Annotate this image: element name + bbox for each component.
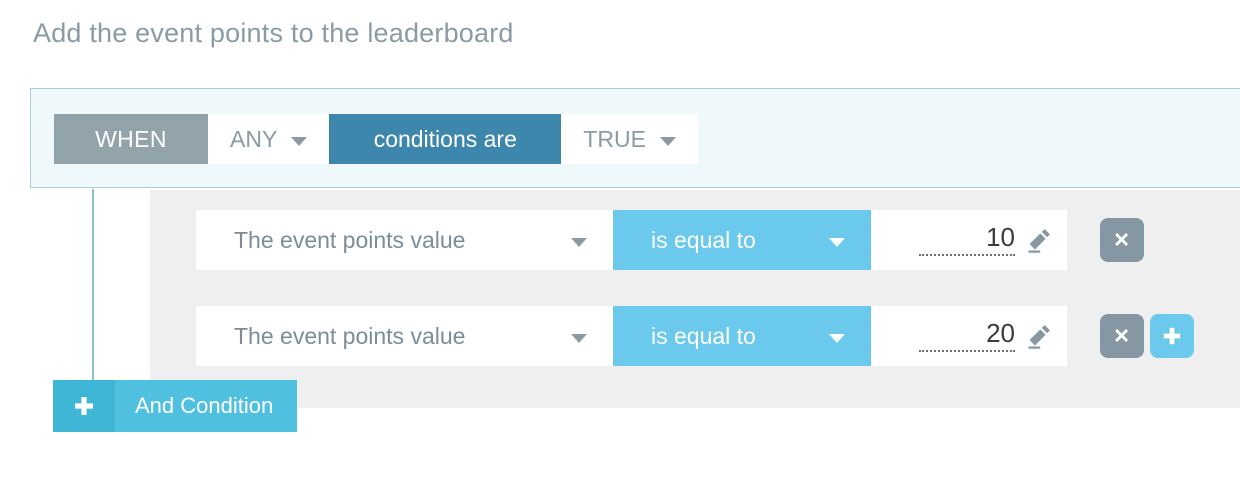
truth-value: TRUE — [583, 126, 646, 153]
close-icon — [1111, 325, 1133, 347]
condition-value-wrap: 20 — [919, 320, 1015, 352]
condition-value: 10 — [986, 224, 1015, 254]
condition-actions — [1100, 306, 1194, 366]
condition-value-field[interactable]: 20 — [871, 306, 1067, 366]
when-label: WHEN — [54, 114, 208, 164]
quantifier-value: ANY — [230, 126, 277, 153]
chevron-down-icon — [829, 334, 845, 343]
condition-subject-dropdown[interactable]: The event points value — [196, 210, 613, 270]
chevron-down-icon — [291, 137, 307, 146]
plus-icon — [1161, 325, 1183, 347]
page-title: Add the event points to the leaderboard — [33, 18, 514, 49]
chevron-down-icon — [571, 334, 587, 343]
pencil-icon[interactable] — [1025, 322, 1053, 350]
condition-actions — [1100, 210, 1144, 270]
condition-value: 20 — [986, 320, 1015, 350]
condition-operator-dropdown[interactable]: is equal to — [613, 210, 871, 270]
condition-connector-line — [92, 189, 94, 381]
chevron-down-icon — [571, 238, 587, 247]
add-condition-inline-button[interactable] — [1150, 314, 1194, 358]
condition-operator-label: is equal to — [651, 227, 756, 254]
condition-operator-label: is equal to — [651, 323, 756, 350]
value-underline — [919, 254, 1015, 256]
condition-row: The event points value is equal to 20 — [196, 306, 1067, 366]
condition-operator-dropdown[interactable]: is equal to — [613, 306, 871, 366]
quantifier-dropdown[interactable]: ANY — [208, 114, 329, 164]
remove-condition-button[interactable] — [1100, 218, 1144, 262]
value-underline — [919, 350, 1015, 352]
and-condition-button[interactable]: And Condition — [53, 380, 297, 432]
and-condition-icon-box — [53, 380, 115, 432]
condition-value-field[interactable]: 10 — [871, 210, 1067, 270]
truth-value-dropdown[interactable]: TRUE — [561, 114, 698, 164]
pencil-icon[interactable] — [1025, 226, 1053, 254]
plus-icon — [72, 394, 96, 418]
when-panel: WHEN ANY conditions are TRUE — [30, 88, 1240, 188]
condition-row: The event points value is equal to 10 — [196, 210, 1067, 270]
condition-subject-dropdown[interactable]: The event points value — [196, 306, 613, 366]
and-condition-label: And Condition — [115, 380, 297, 432]
conditions-are-label: conditions are — [329, 114, 561, 164]
condition-subject-label: The event points value — [234, 323, 465, 350]
chevron-down-icon — [660, 137, 676, 146]
chevron-down-icon — [829, 238, 845, 247]
remove-condition-button[interactable] — [1100, 314, 1144, 358]
condition-subject-label: The event points value — [234, 227, 465, 254]
when-condition-bar: WHEN ANY conditions are TRUE — [54, 114, 698, 164]
close-icon — [1111, 229, 1133, 251]
condition-value-wrap: 10 — [919, 224, 1015, 256]
